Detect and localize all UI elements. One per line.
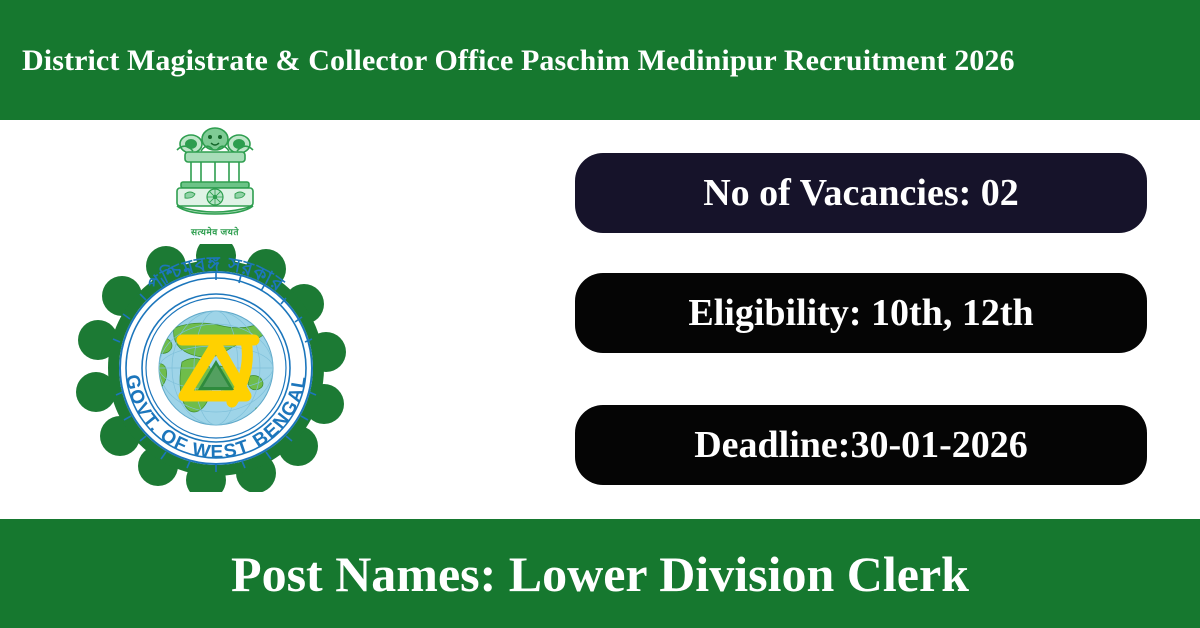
highlight-deadline-label: Deadline:30-01-2026 (694, 426, 1028, 464)
poster-body: सत्यमेव जयते (0, 120, 1200, 519)
highlight-eligibility: Eligibility: 10th, 12th (575, 273, 1147, 353)
emblem-column: सत्यमेव जयते (0, 120, 440, 519)
highlight-vacancies: No of Vacancies: 02 (575, 153, 1147, 233)
west-bengal-government-seal-icon: পশ্চিমবঙ্গ সরকার GOVT. OF WEST BENGAL (70, 244, 362, 492)
recruitment-poster: District Magistrate & Collector Office P… (0, 0, 1200, 628)
ashoka-lion-capital-icon (155, 124, 275, 226)
highlight-vacancies-label: No of Vacancies: 02 (703, 174, 1019, 212)
west-bengal-seal-group: পশ্চিমবঙ্গ সরকার GOVT. OF WEST BENGAL (70, 244, 362, 492)
footer-bar: Post Names: Lower Division Clerk (0, 519, 1200, 628)
national-emblem-group: सत्यमेव जयते (155, 124, 275, 226)
highlights-column: No of Vacancies: 02 Eligibility: 10th, 1… (575, 120, 1147, 519)
highlight-eligibility-label: Eligibility: 10th, 12th (688, 294, 1033, 332)
highlight-deadline: Deadline:30-01-2026 (575, 405, 1147, 485)
post-names-title: Post Names: Lower Division Clerk (231, 549, 969, 599)
header-bar: District Magistrate & Collector Office P… (0, 0, 1200, 120)
page-title: District Magistrate & Collector Office P… (0, 44, 1015, 77)
national-emblem-motto: सत्यमेव जयते (155, 225, 275, 238)
